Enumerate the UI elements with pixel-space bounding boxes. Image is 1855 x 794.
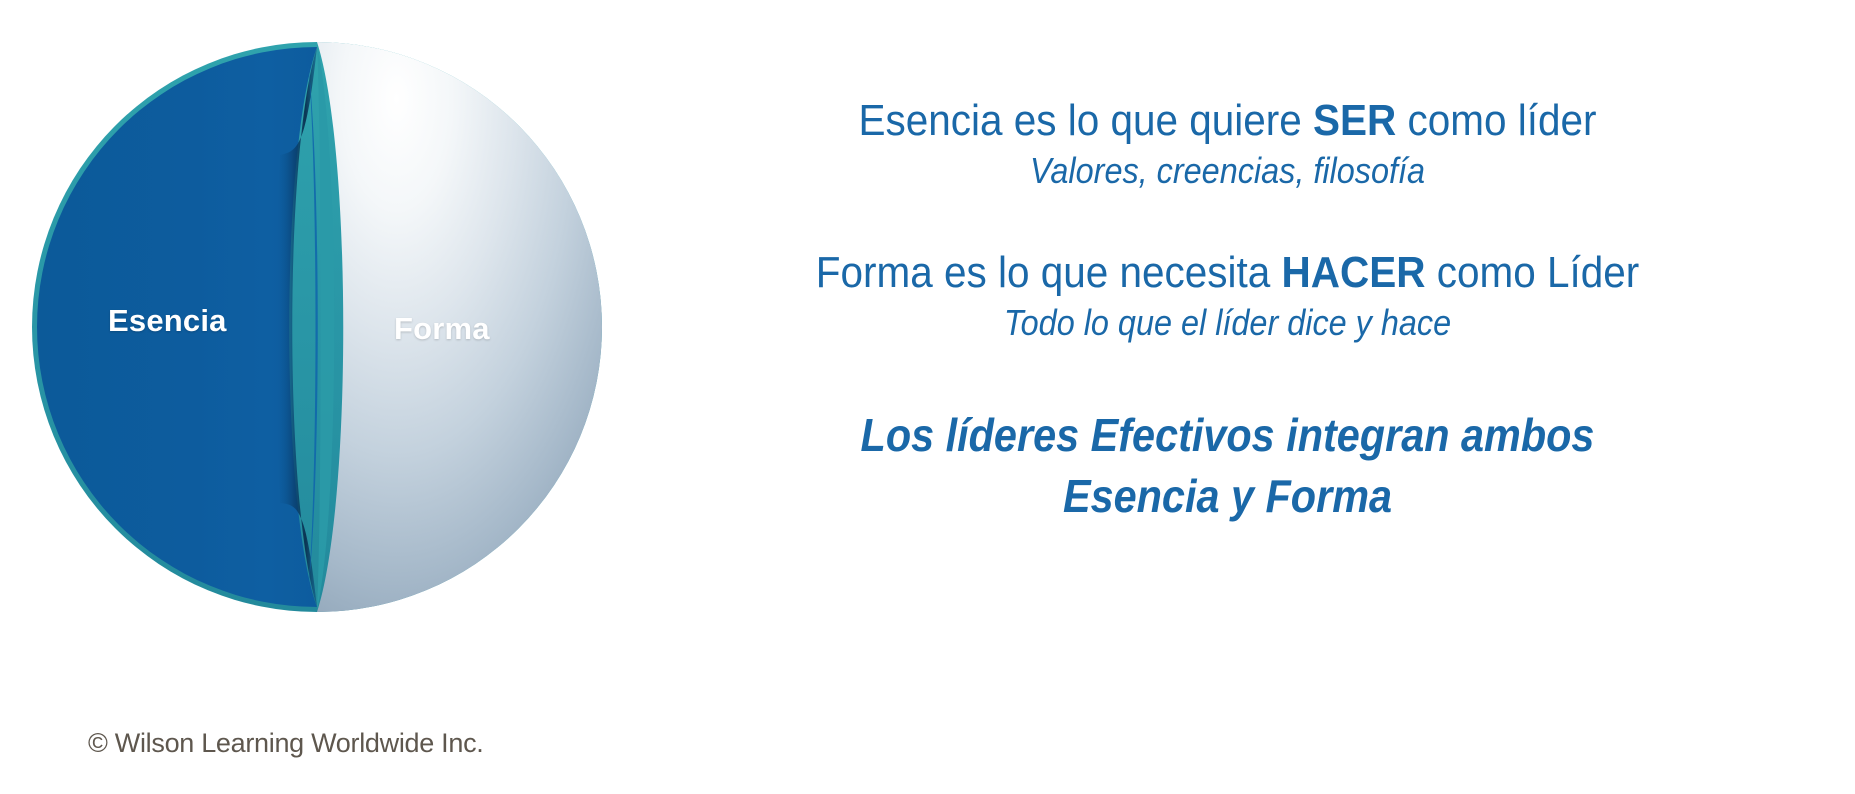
slide-canvas: Esencia Forma © Wilson Learning Worldwid… (0, 0, 1855, 794)
essence-form-sphere-diagram: Esencia Forma (22, 35, 612, 620)
essence-main-suffix: como líder (1396, 96, 1596, 145)
explanation-text-column: Esencia es lo que quiere SER como líder … (620, 96, 1835, 527)
form-main-prefix: Forma es lo que necesita (816, 248, 1282, 297)
form-main-line: Forma es lo que necesita HACER como Líde… (669, 248, 1787, 297)
sphere-label-esencia: Esencia (108, 303, 227, 339)
sphere-label-forma: Forma (394, 311, 490, 347)
closing-statement: Los líderes Efectivos integran ambos Ese… (620, 405, 1835, 526)
form-main-suffix: como Líder (1425, 248, 1639, 297)
essence-main-line: Esencia es lo que quiere SER como líder (669, 96, 1787, 145)
essence-main-prefix: Esencia es lo que quiere (858, 96, 1313, 145)
form-paragraph: Forma es lo que necesita HACER como Líde… (620, 248, 1835, 344)
closing-line-2: Esencia y Forma (681, 466, 1775, 527)
form-subtitle: Todo lo que el líder dice y hace (681, 303, 1775, 343)
paragraph-spacer (620, 343, 1835, 405)
form-keyword: HACER (1282, 248, 1426, 297)
essence-paragraph: Esencia es lo que quiere SER como líder … (620, 96, 1835, 192)
copyright-notice: © Wilson Learning Worldwide Inc. (88, 728, 483, 759)
paragraph-spacer (620, 192, 1835, 248)
closing-line-1: Los líderes Efectivos integran ambos (681, 405, 1775, 466)
essence-keyword: SER (1313, 96, 1396, 145)
essence-subtitle: Valores, creencias, filosofía (681, 151, 1775, 191)
